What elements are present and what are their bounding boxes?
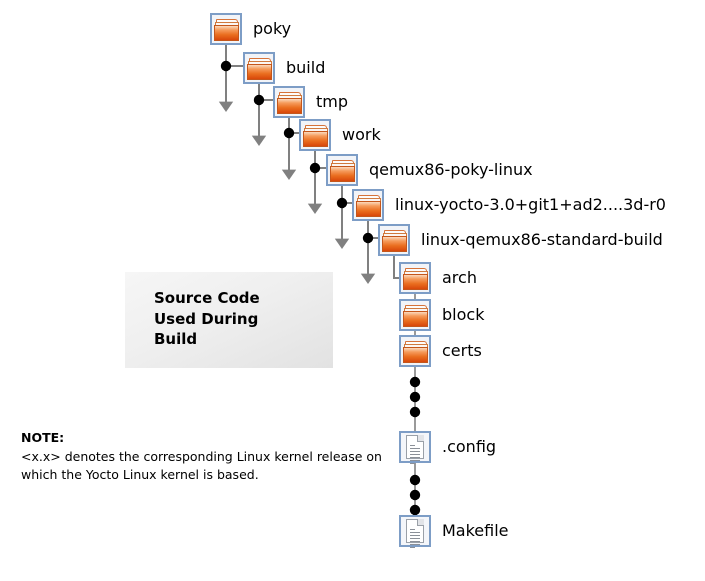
connector-lines xyxy=(0,0,705,581)
tree-node-label: linux-qemux86-standard-build xyxy=(421,232,663,248)
tree-node-label: Makefile xyxy=(442,523,509,539)
tree-node-label: certs xyxy=(442,343,482,359)
tree-node-certs[interactable]: certs xyxy=(399,335,482,367)
folder-icon xyxy=(399,262,431,294)
callout-line-1: Source Code xyxy=(154,288,260,309)
note-line-1: <x.x> denotes the corresponding Linux ke… xyxy=(21,448,391,466)
tree-node-linux-yocto[interactable]: linux-yocto-3.0+git1+ad2....3d-r0 xyxy=(352,189,666,221)
tree-node-tmp[interactable]: tmp xyxy=(273,86,348,118)
tree-node-label: build xyxy=(286,60,325,76)
folder-icon xyxy=(243,52,275,84)
tree-node-poky[interactable]: poky xyxy=(210,13,291,45)
note-line-2: which the Yocto Linux kernel is based. xyxy=(21,466,391,484)
folder-icon xyxy=(378,224,410,256)
ellipsis-config-makefile xyxy=(405,474,425,518)
tree-node-label: block xyxy=(442,307,484,323)
folder-icon xyxy=(273,86,305,118)
folder-icon xyxy=(352,189,384,221)
tree-node-label: poky xyxy=(253,21,291,37)
tree-node-label: tmp xyxy=(316,94,348,110)
folder-icon xyxy=(210,13,242,45)
tree-node-work[interactable]: work xyxy=(299,119,381,151)
tree-node-build[interactable]: build xyxy=(243,52,325,84)
tree-node-label: qemux86-poky-linux xyxy=(369,162,533,178)
tree-node-label: linux-yocto-3.0+git1+ad2....3d-r0 xyxy=(395,197,666,213)
tree-node-makefile[interactable]: Makefile xyxy=(399,515,509,547)
tree-node-label: arch xyxy=(442,270,477,286)
diagram-canvas: poky build tmp xyxy=(0,0,705,581)
tree-node-qemux86-poky-linux[interactable]: qemux86-poky-linux xyxy=(326,154,533,186)
tree-node-label: .config xyxy=(442,439,496,455)
tree-node-arch[interactable]: arch xyxy=(399,262,477,294)
tree-node-block[interactable]: block xyxy=(399,299,484,331)
note-block: NOTE: <x.x> denotes the corresponding Li… xyxy=(21,430,391,483)
document-icon xyxy=(399,431,431,463)
tree-node-config[interactable]: .config xyxy=(399,431,496,463)
tree-node-linux-qemux86-standard-build[interactable]: linux-qemux86-standard-build xyxy=(378,224,663,256)
folder-icon xyxy=(326,154,358,186)
source-code-callout: Source Code Used During Build xyxy=(125,272,333,368)
callout-line-2: Used During xyxy=(154,309,260,330)
callout-line-3: Build xyxy=(154,329,260,350)
folder-icon xyxy=(399,299,431,331)
folder-icon xyxy=(299,119,331,151)
ellipsis-certs-config xyxy=(405,376,425,420)
tree-node-label: work xyxy=(342,127,381,143)
document-icon xyxy=(399,515,431,547)
folder-icon xyxy=(399,335,431,367)
note-title: NOTE: xyxy=(21,430,391,447)
